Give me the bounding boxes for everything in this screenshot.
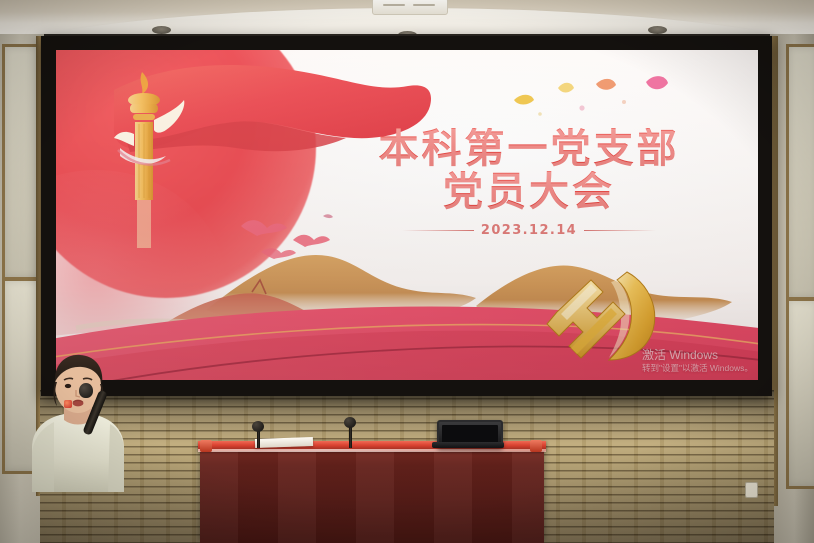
gooseneck-microphone-right-stem — [349, 425, 352, 448]
date-rule-right — [584, 230, 656, 231]
butterfly-petals-graphic — [496, 68, 696, 128]
downlight-3 — [648, 26, 667, 34]
gooseneck-microphone-left-head — [252, 421, 264, 432]
downlight-1 — [152, 26, 171, 34]
slide-date: 2023.12.14 — [481, 223, 577, 238]
screenshot-root: 本科第一党支部 党员大会 2023.12.14 激活 Windows 转到"设置… — [0, 0, 814, 543]
slide-title-line1: 本科第一党支部 — [314, 128, 744, 170]
party-badge — [64, 400, 72, 408]
laptop-base[interactable] — [432, 442, 504, 448]
slide-title-line2: 党员大会 — [314, 171, 744, 213]
party-emblem-graphic — [531, 262, 676, 372]
handheld-microphone-head — [79, 383, 93, 398]
gooseneck-microphone-right-head — [344, 417, 356, 428]
slide-title-block: 本科第一党支部 党员大会 2023.12.14 — [314, 128, 744, 238]
table-endcap-right — [530, 440, 542, 452]
date-rule-left — [402, 230, 474, 231]
ceiling-vent-fixture — [372, 0, 448, 15]
table-edge-highlight — [198, 449, 546, 452]
conference-table — [200, 448, 544, 543]
wall-outlet — [745, 482, 758, 498]
wall-panel-right-upper — [786, 44, 814, 300]
golden-torch-graphic — [108, 64, 196, 254]
projection-screen: 本科第一党支部 党员大会 2023.12.14 激活 Windows 转到"设置… — [56, 50, 758, 380]
slide-date-row: 2023.12.14 — [314, 223, 744, 238]
wall-panel-right-lower — [786, 298, 814, 489]
table-endcap-left — [200, 440, 212, 452]
